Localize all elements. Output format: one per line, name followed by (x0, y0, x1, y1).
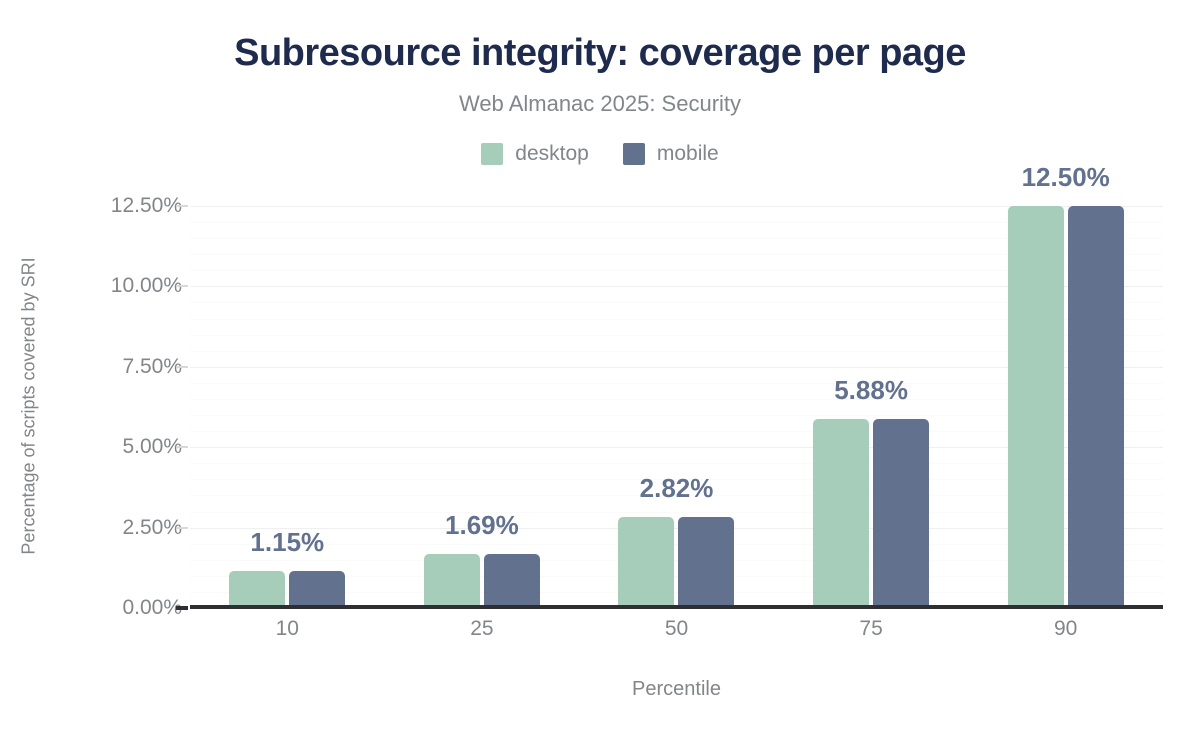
bar-value-label: 12.50% (1022, 162, 1110, 193)
x-axis-tick-label: 50 (665, 617, 688, 641)
legend-swatch-mobile (623, 143, 645, 165)
y-axis-tick-label: 5.00% (122, 435, 182, 459)
x-axis-line (190, 605, 1163, 609)
bar-group (579, 206, 774, 608)
y-axis-title: Percentage of scripts covered by SRI (19, 257, 40, 554)
chart-title: Subresource integrity: coverage per page (0, 32, 1200, 75)
legend-item-desktop[interactable]: desktop (481, 142, 589, 166)
bar-value-label: 2.82% (640, 473, 714, 504)
x-axis-tick-label: 10 (276, 617, 299, 641)
x-axis-tick-label: 25 (470, 617, 493, 641)
chart-legend: desktop mobile (0, 142, 1200, 166)
bar-desktop-50[interactable] (618, 517, 674, 608)
bar-group (774, 206, 969, 608)
bar-desktop-75[interactable] (813, 419, 869, 608)
legend-label-desktop: desktop (515, 142, 589, 166)
y-axis-tick-mark (176, 606, 188, 610)
legend-label-mobile: mobile (657, 142, 719, 166)
y-axis-tick-label: 0.00% (122, 596, 182, 620)
bar-value-label: 1.15% (250, 527, 324, 558)
chart-subtitle: Web Almanac 2025: Security (0, 91, 1200, 117)
y-axis-tick-mark (176, 285, 188, 287)
legend-item-mobile[interactable]: mobile (623, 142, 719, 166)
y-axis-tick-label: 2.50% (122, 516, 182, 540)
bar-group (385, 206, 580, 608)
y-axis-tick-mark (176, 446, 188, 448)
chart-container: Subresource integrity: coverage per page… (0, 0, 1200, 742)
bar-group (968, 206, 1163, 608)
legend-swatch-desktop (481, 143, 503, 165)
y-axis-tick-mark (176, 527, 188, 529)
bar-desktop-90[interactable] (1008, 206, 1064, 608)
bar-value-label: 5.88% (834, 375, 908, 406)
y-axis-tick-label: 10.00% (111, 274, 182, 298)
y-axis-tick-label: 12.50% (111, 194, 182, 218)
x-axis-tick-label: 75 (859, 617, 882, 641)
bar-mobile-25[interactable] (484, 554, 540, 608)
plot-area (190, 206, 1163, 608)
x-axis-title: Percentile (190, 678, 1163, 701)
bar-mobile-50[interactable] (678, 517, 734, 608)
bar-mobile-75[interactable] (873, 419, 929, 608)
y-axis-tick-label: 7.50% (122, 355, 182, 379)
bar-value-label: 1.69% (445, 510, 519, 541)
bar-desktop-10[interactable] (229, 571, 285, 608)
bar-mobile-10[interactable] (289, 571, 345, 608)
y-axis-tick-mark (176, 205, 188, 207)
y-axis-tick-mark (176, 366, 188, 368)
bar-mobile-90[interactable] (1068, 206, 1124, 608)
x-axis-tick-label: 90 (1054, 617, 1077, 641)
bar-desktop-25[interactable] (424, 554, 480, 608)
